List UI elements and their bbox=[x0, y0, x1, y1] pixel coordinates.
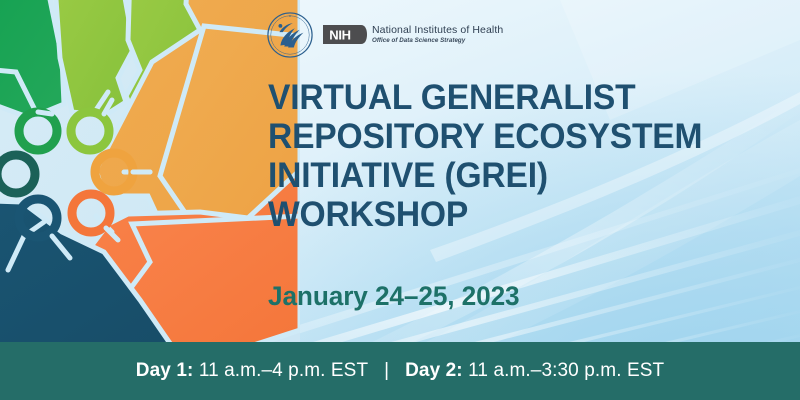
svg-text:NIH: NIH bbox=[329, 28, 351, 43]
day1-label: Day 1: bbox=[136, 360, 194, 381]
day2-label: Day 2: bbox=[405, 360, 463, 381]
schedule-bar: Day 1: 11 a.m.–4 p.m. EST | Day 2: 11 a.… bbox=[0, 342, 800, 400]
schedule-separator: | bbox=[368, 360, 405, 382]
grei-ecosystem-graphic bbox=[0, 0, 300, 345]
title-line-1: Virtual Generalist bbox=[268, 78, 719, 117]
title-line-4: Workshop bbox=[268, 195, 719, 234]
nih-wordmark-icon: NIH bbox=[323, 25, 367, 44]
event-date: January 24–25, 2023 bbox=[268, 281, 520, 312]
title-line-3: Initiative (GREI) bbox=[268, 156, 719, 195]
day2-schedule: Day 2: 11 a.m.–3:30 p.m. EST bbox=[405, 360, 664, 382]
page-title: Virtual Generalist Repository Ecosystem … bbox=[268, 78, 738, 234]
day1-schedule: Day 1: 11 a.m.–4 p.m. EST bbox=[136, 360, 368, 382]
title-line-2: Repository Ecosystem bbox=[268, 117, 719, 156]
svg-text:★: ★ bbox=[289, 14, 292, 18]
nih-agency-name: National Institutes of Health bbox=[372, 25, 503, 36]
day2-time: 11 a.m.–3:30 p.m. EST bbox=[468, 360, 664, 381]
hhs-seal-icon: ★ bbox=[266, 11, 314, 59]
nih-office-name: Office of Data Science Strategy bbox=[372, 38, 503, 44]
nih-logo: NIH National Institutes of Health Office… bbox=[323, 25, 503, 44]
grei-workshop-banner: ★ NIH National Institutes of Health Offi… bbox=[0, 0, 800, 400]
agency-logo-lockup: ★ NIH National Institutes of Health Offi… bbox=[266, 11, 503, 59]
day1-time: 11 a.m.–4 p.m. EST bbox=[199, 360, 368, 381]
